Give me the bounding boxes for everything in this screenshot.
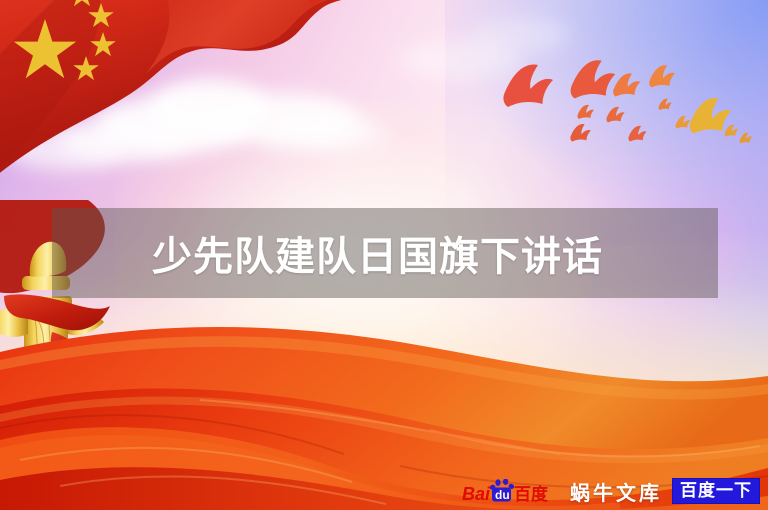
cover-image: 少先队建队日国旗下讲话 Bai du 百度 蜗牛文库 (0, 0, 768, 510)
watermark-brand-label: 蜗牛文库 (570, 477, 662, 506)
baidu-logo-icon: Bai du 百度 (462, 479, 562, 503)
baidu-search-button[interactable]: 百度一下 (672, 478, 760, 504)
flag-shape-icon (0, 0, 410, 179)
chinese-national-flag (0, 0, 410, 179)
svg-text:du: du (495, 488, 510, 502)
watermark-bar: Bai du 百度 蜗牛文库 百度一下 (462, 478, 760, 504)
svg-text:百度: 百度 (514, 484, 549, 503)
baidu-logo[interactable]: Bai du 百度 (462, 478, 562, 504)
svg-text:Bai: Bai (462, 484, 491, 503)
page-title: 少先队建队日国旗下讲话 (152, 208, 672, 298)
